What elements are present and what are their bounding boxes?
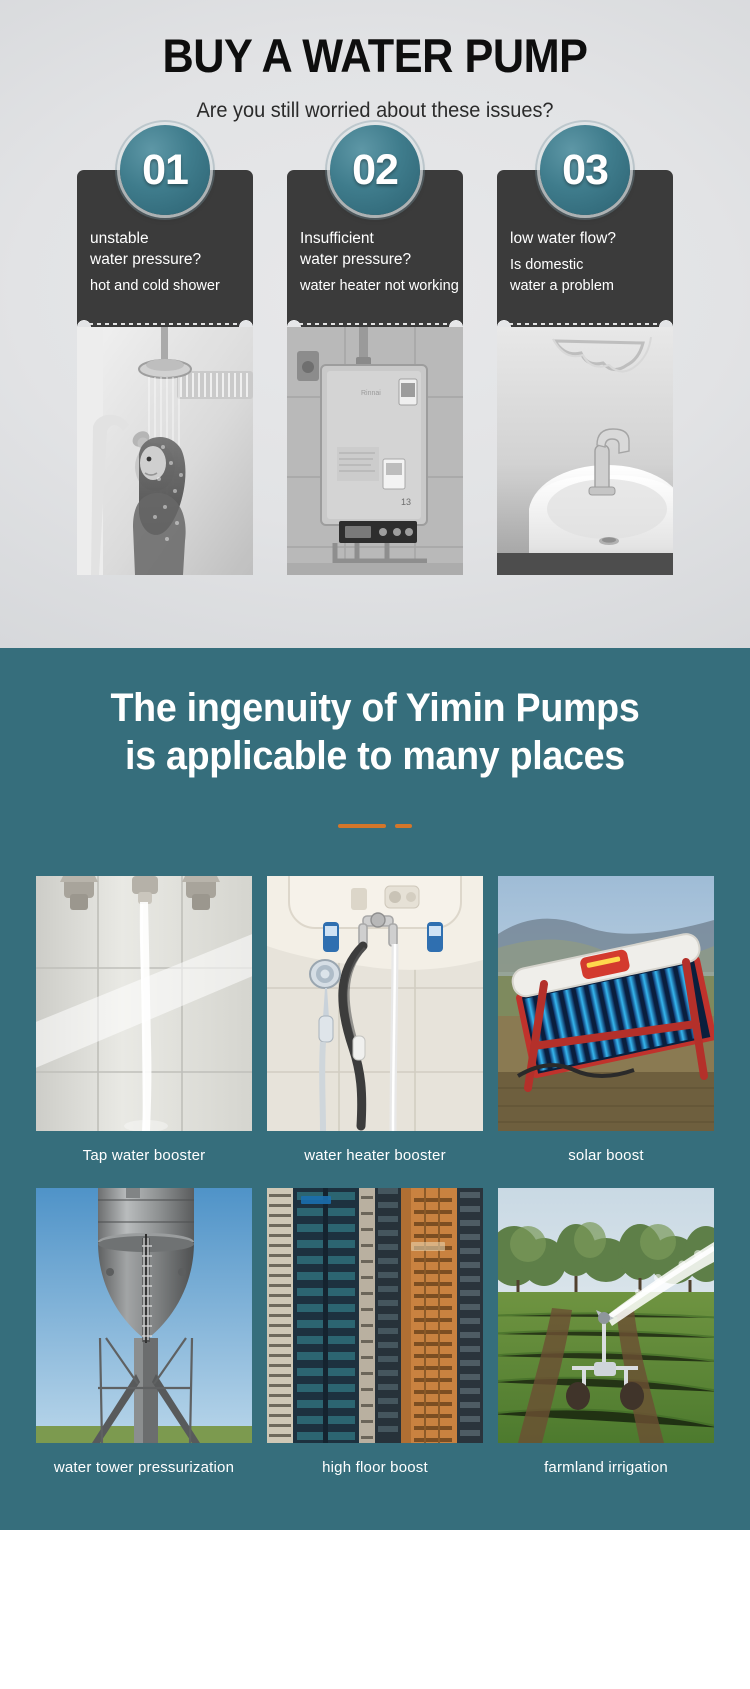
problem-card-1-number: 01 bbox=[142, 146, 188, 195]
application-item-4[interactable]: water tower pressurization bbox=[36, 1188, 252, 1490]
page-title: BUY A WATER PUMP bbox=[30, 0, 720, 83]
problems-section: BUY A WATER PUMP Are you still worried a… bbox=[0, 0, 750, 648]
svg-text:13: 13 bbox=[401, 497, 411, 507]
problem-card-3-notch bbox=[497, 313, 673, 327]
applications-grid: Tap water booster bbox=[36, 876, 714, 1490]
problem-card-2-perforation bbox=[299, 323, 451, 325]
application-item-3-photo bbox=[498, 876, 714, 1131]
application-item-2-photo bbox=[267, 876, 483, 1131]
farmland-sprinkler-irrigation-photo bbox=[498, 1188, 714, 1443]
application-item-1[interactable]: Tap water booster bbox=[36, 876, 252, 1178]
problem-card-3-number: 03 bbox=[562, 146, 608, 195]
tap-water-running-photo bbox=[36, 876, 252, 1131]
application-item-6[interactable]: farmland irrigation bbox=[498, 1188, 714, 1490]
problem-card-3-badge: 03 bbox=[540, 125, 630, 215]
problem-card-1-notch bbox=[77, 313, 253, 327]
applications-title: The ingenuity of Yimin Pumps is applicab… bbox=[0, 684, 750, 780]
divider-dash-short bbox=[395, 824, 412, 828]
problem-card-2-line1: Insufficient bbox=[300, 228, 450, 249]
problem-card-2-number: 02 bbox=[352, 146, 398, 195]
problem-card-1-line2: water pressure? bbox=[90, 249, 240, 270]
problem-card-2-line2: water pressure? bbox=[300, 249, 450, 270]
high-rise-buildings-photo bbox=[267, 1188, 483, 1443]
page-subtitle: Are you still worried about these issues… bbox=[19, 99, 732, 123]
application-item-1-label: Tap water booster bbox=[36, 1131, 252, 1178]
divider-dash-long bbox=[338, 824, 386, 828]
application-item-3-label: solar boost bbox=[498, 1131, 714, 1178]
problem-card-3-line1: low water flow? bbox=[510, 228, 660, 249]
application-item-6-label: farmland irrigation bbox=[498, 1443, 714, 1490]
gas-water-heater-photo: Rinnai 13 bbox=[287, 327, 463, 575]
problem-card-1-line1: unstable bbox=[90, 228, 240, 249]
application-item-5-label: high floor boost bbox=[267, 1443, 483, 1490]
wall-water-heater-shower-photo bbox=[267, 876, 483, 1131]
problem-card-2[interactable]: 02 Insufficient water pressure? water he… bbox=[287, 170, 463, 575]
application-item-3[interactable]: solar boost bbox=[498, 876, 714, 1178]
problem-card-3-perforation bbox=[509, 323, 661, 325]
problem-card-2-notch bbox=[287, 313, 463, 327]
problem-card-3-photo bbox=[497, 327, 673, 575]
problem-card-2-line3: water heater not working bbox=[300, 276, 450, 297]
woman-in-shower-photo bbox=[77, 327, 253, 575]
application-item-4-photo bbox=[36, 1188, 252, 1443]
problem-card-1-line3: hot and cold shower bbox=[90, 276, 240, 297]
problem-card-1-perforation bbox=[89, 323, 241, 325]
application-item-2-label: water heater booster bbox=[267, 1131, 483, 1178]
problem-card-3-line3: water a problem bbox=[510, 276, 660, 297]
application-item-2[interactable]: water heater booster bbox=[267, 876, 483, 1178]
applications-title-line1: The ingenuity of Yimin Pumps bbox=[23, 684, 728, 732]
problem-card-1-photo bbox=[77, 327, 253, 575]
solar-water-heater-photo bbox=[498, 876, 714, 1131]
problem-card-3-line2: Is domestic bbox=[510, 255, 660, 276]
applications-section: The ingenuity of Yimin Pumps is applicab… bbox=[0, 648, 750, 1530]
bathroom-sink-faucet-photo bbox=[497, 327, 673, 575]
application-item-5-photo bbox=[267, 1188, 483, 1443]
problem-card-1[interactable]: 01 unstable water pressure? hot and cold… bbox=[77, 170, 253, 575]
applications-title-line2: is applicable to many places bbox=[23, 732, 728, 780]
problem-cards-row: 01 unstable water pressure? hot and cold… bbox=[0, 170, 750, 575]
water-tower-photo bbox=[36, 1188, 252, 1443]
problem-card-2-badge: 02 bbox=[330, 125, 420, 215]
problem-card-1-badge: 01 bbox=[120, 125, 210, 215]
section-divider bbox=[320, 824, 430, 828]
problem-card-2-photo: Rinnai 13 bbox=[287, 327, 463, 575]
application-item-1-photo bbox=[36, 876, 252, 1131]
svg-text:Rinnai: Rinnai bbox=[361, 390, 381, 397]
application-item-4-label: water tower pressurization bbox=[36, 1443, 252, 1490]
application-item-5[interactable]: high floor boost bbox=[267, 1188, 483, 1490]
problem-card-3[interactable]: 03 low water flow? Is domestic water a p… bbox=[497, 170, 673, 575]
application-item-6-photo bbox=[498, 1188, 714, 1443]
